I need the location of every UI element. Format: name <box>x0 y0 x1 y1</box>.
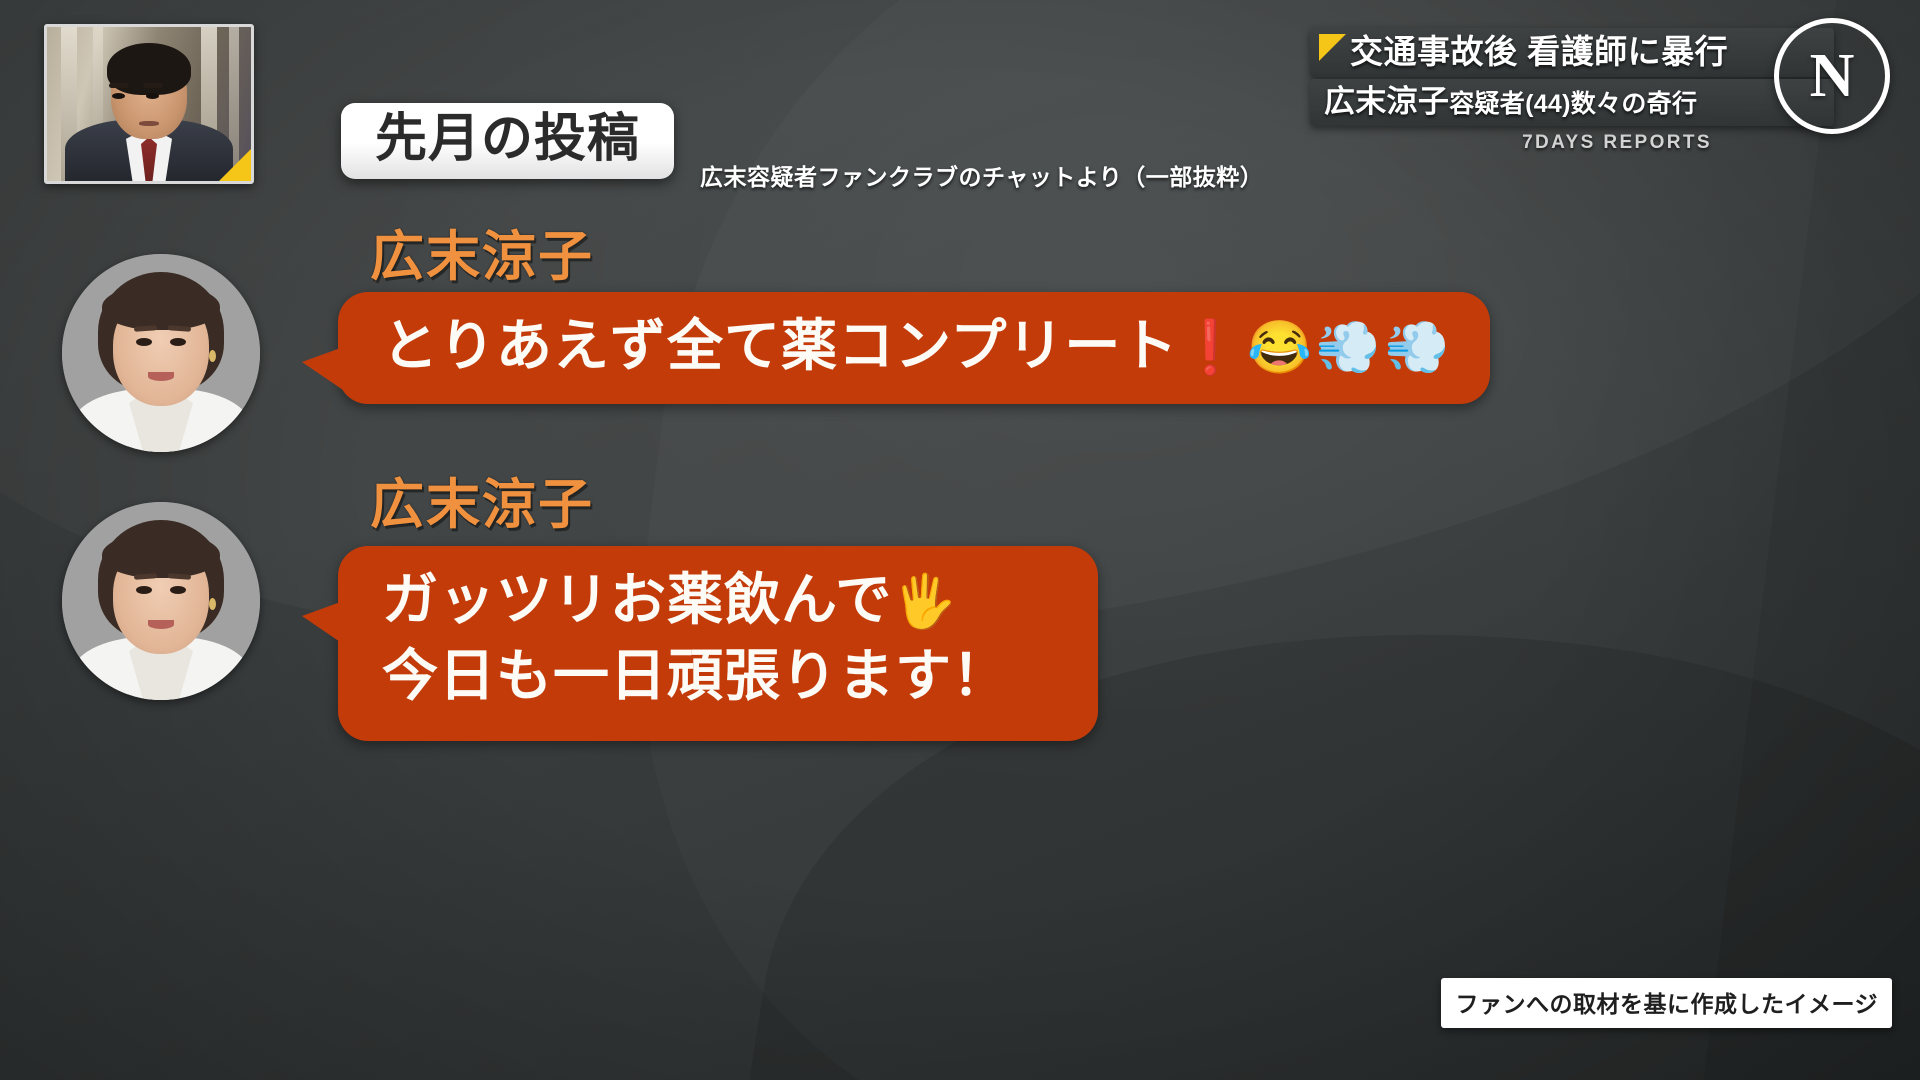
headline-row-secondary: 広末涼子容疑者(44)数々の奇行 <box>1310 79 1834 126</box>
chat-bubble: とりあえず全て薬コンプリート❗😂💨💨 <box>338 292 1490 404</box>
anchor-eyebrow <box>143 83 163 88</box>
chat-bubble-text: とりあえず全て薬コンプリート❗😂💨💨 <box>382 310 1456 382</box>
source-note-text: 広末容疑者ファンクラブのチャットより（一部抜粋） <box>700 158 1263 192</box>
avatar-bangs <box>102 284 220 330</box>
chat-sender-name: 広末涼子 <box>370 212 594 291</box>
section-label-plate: 先月の投稿 <box>341 103 674 179</box>
section-label-text: 先月の投稿 <box>375 112 640 166</box>
avatar <box>62 502 260 700</box>
anchor-eyebrow <box>109 83 129 88</box>
program-name: 7DAYS REPORTS <box>1310 132 1834 154</box>
chat-message-text: とりあえず全て薬コンプリート <box>382 314 1178 377</box>
anchor-eye <box>146 93 159 99</box>
avatar-earring <box>209 598 216 610</box>
headline-block: 交通事故後 看護師に暴行 広末涼子容疑者(44)数々の奇行 7DAYS REPO… <box>1310 28 1834 154</box>
anchor-eye <box>112 93 125 99</box>
avatar-eye <box>170 586 186 594</box>
channel-logo-icon: N <box>1774 18 1890 134</box>
avatar-earring <box>209 350 216 362</box>
chat-bubble-tail <box>302 346 346 392</box>
chat-emoji-group: ❗😂💨💨 <box>1178 319 1453 377</box>
anchor-mouth <box>139 121 159 126</box>
suspect-detail: 容疑者(44)数々の奇行 <box>1449 90 1697 118</box>
disclaimer-box: ファンへの取材を基に作成したイメージ <box>1441 978 1892 1028</box>
suspect-name: 広末涼子 <box>1324 84 1449 119</box>
chat-emoji-group: 🖐 <box>892 573 961 631</box>
avatar-mouth <box>148 620 174 629</box>
chat-sender-name: 広末涼子 <box>370 460 594 539</box>
chat-bubble-text-line2: 今日も一日頑張ります！ <box>382 640 1064 712</box>
chat-bubble-tail <box>302 600 346 646</box>
anchor-video-inset <box>44 24 254 184</box>
chat-message-text: ガッツリお薬飲んで <box>382 568 892 631</box>
avatar-eye <box>170 338 186 346</box>
avatar-eye <box>136 338 152 346</box>
headline-row-primary: 交通事故後 看護師に暴行 <box>1310 28 1834 77</box>
chat-bubble-text: ガッツリお薬飲んで🖐 <box>382 564 1064 636</box>
avatar-bangs <box>102 532 220 578</box>
avatar-eye <box>136 586 152 594</box>
yellow-corner-flag-icon <box>219 149 251 181</box>
chat-bubble: ガッツリお薬飲んで🖐 今日も一日頑張ります！ <box>338 546 1098 741</box>
avatar-mouth <box>148 372 174 381</box>
avatar <box>62 254 260 452</box>
disclaimer-text: ファンへの取材を基に作成したイメージ <box>1455 985 1878 1019</box>
yellow-flag-icon <box>1319 34 1346 61</box>
headline-primary-text: 交通事故後 看護師に暴行 <box>1350 33 1822 71</box>
headline-secondary-text: 広末涼子容疑者(44)数々の奇行 <box>1324 84 1822 120</box>
